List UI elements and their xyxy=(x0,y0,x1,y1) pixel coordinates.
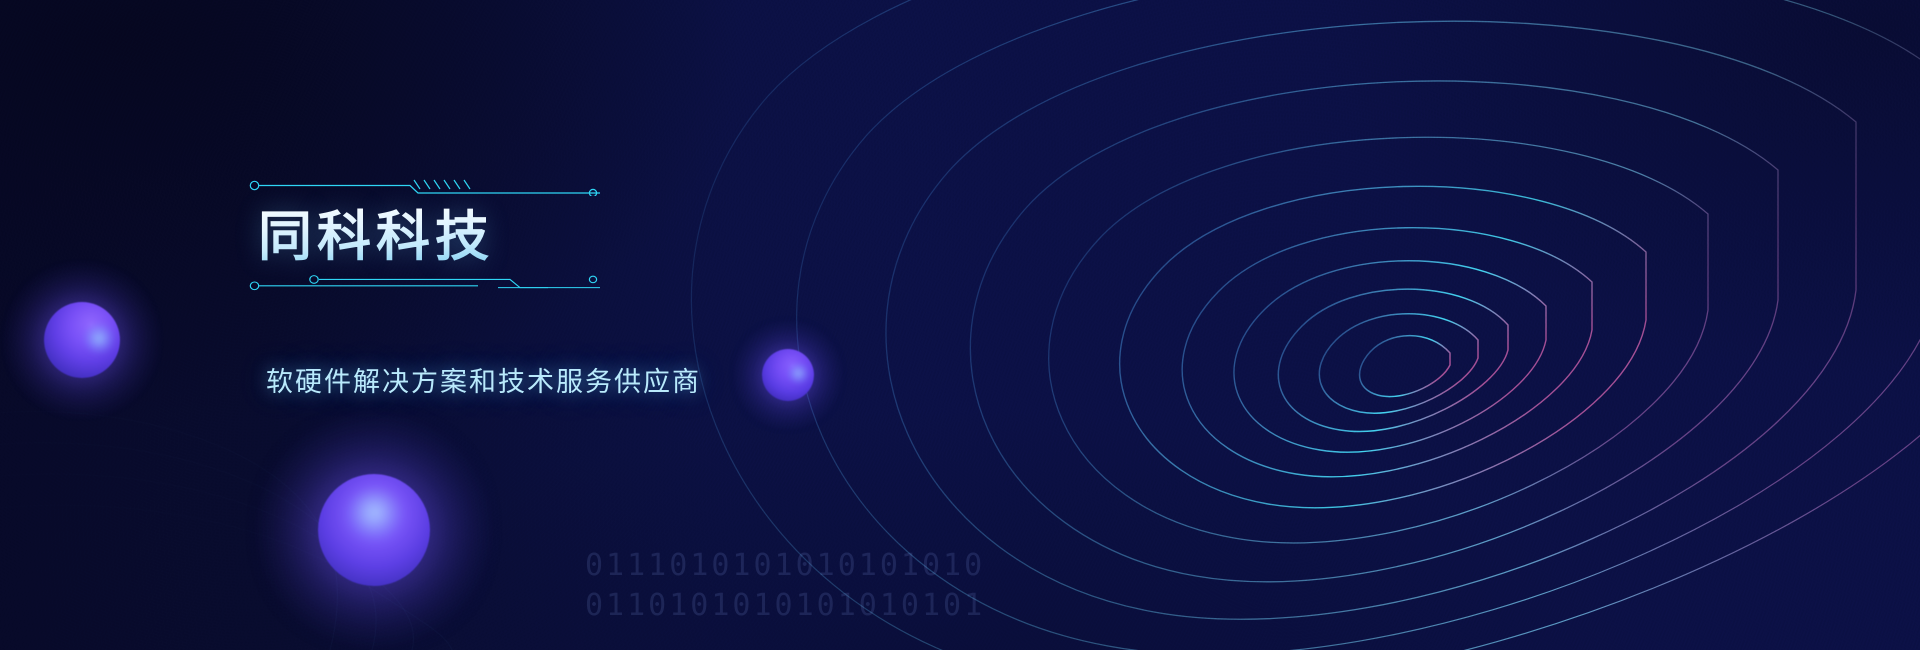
bracket-end-circle xyxy=(589,276,596,283)
page-subtitle: 软硬件解决方案和技术服务供应商 xyxy=(266,360,701,399)
bottom-bracket-line xyxy=(248,274,600,294)
glow-sphere-bottom xyxy=(318,474,430,586)
page-title: 同科科技 xyxy=(248,207,668,270)
glow-sphere-center xyxy=(762,349,814,401)
bracket-node-circle xyxy=(250,181,258,189)
top-bracket-line xyxy=(248,176,600,196)
sphere-highlight xyxy=(83,323,115,353)
glow-sphere-left xyxy=(44,302,120,378)
binary-text-row-2: 0110101010101010101 xyxy=(585,588,985,623)
brand-block: 同科科技 xyxy=(248,176,668,299)
sphere-highlight xyxy=(345,490,403,542)
bracket-node-circle-left xyxy=(250,282,258,290)
binary-text-row-1: 0111010101010101010 xyxy=(585,548,985,583)
hero-banner: 0111010101010101010 0110101010101010101 … xyxy=(0,0,1920,650)
sphere-highlight xyxy=(787,363,810,385)
bracket-node-circle-mid xyxy=(310,276,318,284)
